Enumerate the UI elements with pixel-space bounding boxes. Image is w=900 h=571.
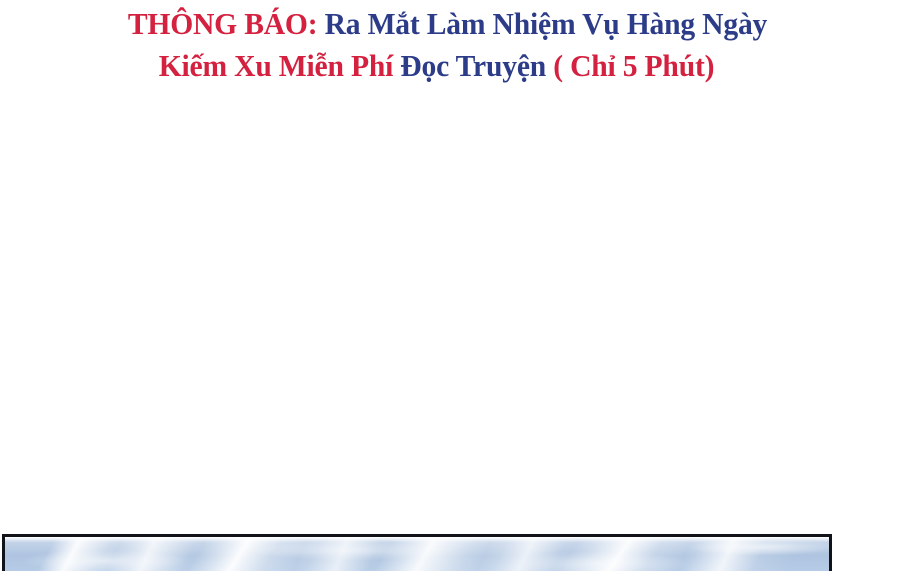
blank-content-area [0,90,900,534]
announcement-banner: THÔNG BÁO: Ra Mắt Làm Nhiệm Vụ Hàng Ngày… [0,0,900,87]
sky-clouds-photo [5,537,829,571]
announcement-line-2-red-text-start: Kiếm Xu Miễn Phí [159,49,393,83]
announcement-line-2-blue-text: Đọc Truyện [393,49,546,83]
announcement-line-1-red-text: THÔNG BÁO: [128,7,318,41]
announcement-line-2-red-text-end: ( Chỉ 5 Phút) [546,49,714,83]
announcement-line-1: THÔNG BÁO: Ra Mắt Làm Nhiệm Vụ Hàng Ngày [9,3,887,45]
announcement-line-1-blue-text: Ra Mắt Làm Nhiệm Vụ Hàng Ngày [317,7,767,41]
announcement-line-2: Kiếm Xu Miễn Phí Đọc Truyện ( Chỉ 5 Phút… [0,45,886,87]
comic-image-panel[interactable] [2,534,832,571]
